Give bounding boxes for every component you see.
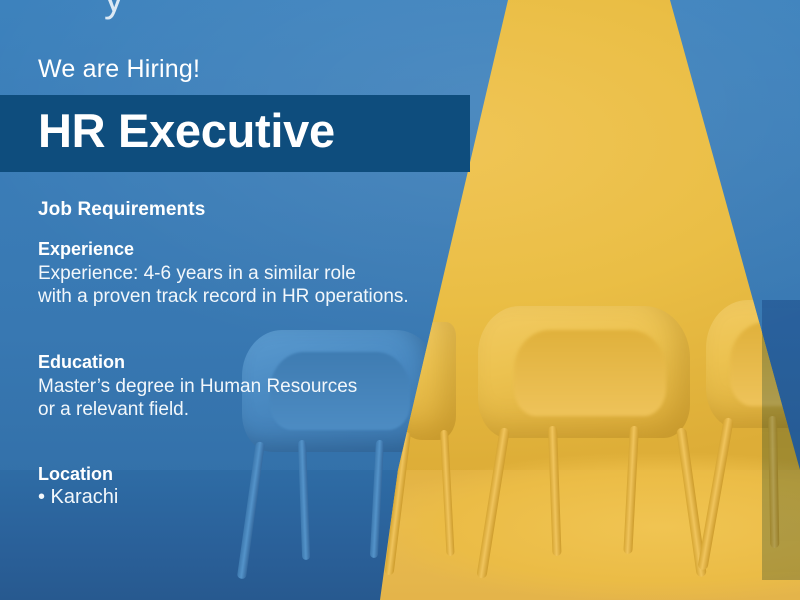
- job-requirements-heading: Job Requirements: [38, 199, 205, 221]
- hiring-poster: y We are Hiring! HR Executive Job Requir…: [0, 0, 800, 600]
- chair-leg: [298, 440, 310, 560]
- chair-yellow-center: [478, 306, 706, 578]
- education-line-1: Master’s degree in Human Resources: [38, 376, 357, 398]
- chair-right-shadowed-part: [762, 300, 800, 580]
- chair-leg: [476, 427, 510, 579]
- location-item: • Karachi: [38, 486, 118, 509]
- chair-leg: [623, 426, 639, 554]
- chair-leg: [370, 440, 384, 558]
- chair-leg: [237, 441, 265, 579]
- experience-line-2: with a proven track record in HR operati…: [38, 286, 409, 308]
- job-title: HR Executive: [38, 103, 335, 158]
- education-line-2: or a relevant field.: [38, 399, 189, 421]
- chair-seat: [514, 330, 666, 416]
- job-title-band: HR Executive: [0, 95, 470, 172]
- eyebrow-text: We are Hiring!: [38, 55, 200, 84]
- chair-leg: [548, 426, 562, 556]
- location-heading: Location: [38, 464, 113, 485]
- experience-line-1: Experience: 4-6 years in a similar role: [38, 263, 356, 285]
- experience-heading: Experience: [38, 239, 134, 260]
- chair-leg: [440, 430, 455, 556]
- education-heading: Education: [38, 352, 125, 373]
- cropped-glyph: y: [104, 0, 124, 21]
